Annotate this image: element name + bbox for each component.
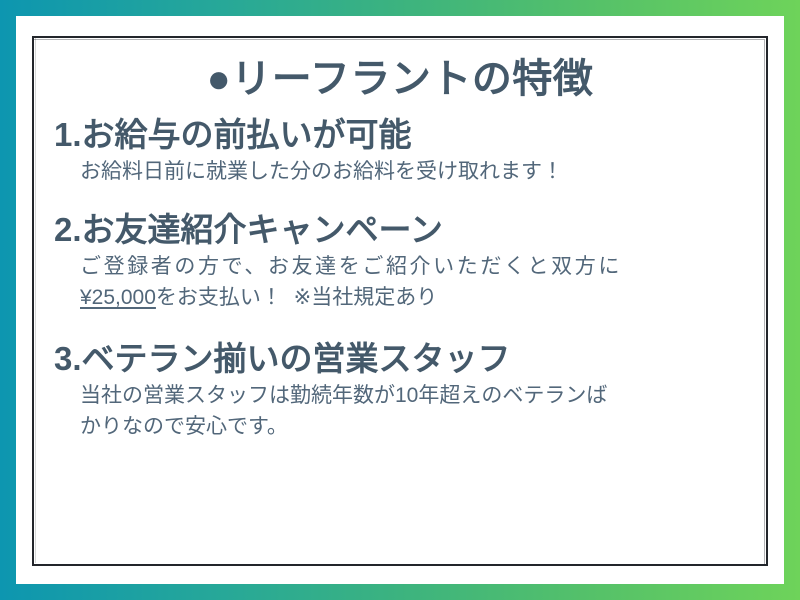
feature-3-body-line-2: かりなので安心です。 <box>80 412 750 442</box>
feature-2-body: ご登録者の方で、お友達をご紹介いただくと双方に ¥25,000をお支払い！ ※当… <box>80 252 750 313</box>
feature-3-body: 当社の営業スタッフは勤続年数が10年超えのベテランば かりなので安心です。 <box>80 381 750 442</box>
feature-1-title: 1.お給与の前払いが可能 <box>54 115 750 155</box>
feature-item-1: 1.お給与の前払いが可能 お給料日前に就業した分のお給料を受け取れます！ <box>50 115 750 188</box>
referral-note: ※当社規定あり <box>294 286 438 309</box>
referral-amount: ¥25,000 <box>80 286 156 309</box>
feature-2-body-line-2: ¥25,000をお支払い！ ※当社規定あり <box>80 283 750 313</box>
feature-item-3: 3.ベテラン揃いの営業スタッフ 当社の営業スタッフは勤続年数が10年超えのベテラ… <box>50 339 750 442</box>
slide-root: ●リーフラントの特徴 1.お給与の前払いが可能 お給料日前に就業した分のお給料を… <box>0 0 800 600</box>
feature-2-title: 2.お友達紹介キャンペーン <box>54 210 750 250</box>
feature-1-body: お給料日前に就業した分のお給料を受け取れます！ <box>80 157 750 187</box>
page-title: ●リーフラントの特徴 <box>50 56 750 103</box>
feature-3-title: 3.ベテラン揃いの営業スタッフ <box>54 339 750 379</box>
feature-item-2: 2.お友達紹介キャンペーン ご登録者の方で、お友達をご紹介いただくと双方に ¥2… <box>50 210 750 313</box>
feature-1-body-line-1: お給料日前に就業した分のお給料を受け取れます！ <box>80 157 750 187</box>
feature-3-body-line-1: 当社の営業スタッフは勤続年数が10年超えのベテランば <box>80 381 750 411</box>
referral-amount-suffix: をお支払い！ <box>156 286 282 309</box>
feature-2-body-line-1: ご登録者の方で、お友達をご紹介いただくと双方に <box>80 252 750 282</box>
slide-content: ●リーフラントの特徴 1.お給与の前払いが可能 お給料日前に就業した分のお給料を… <box>32 36 768 566</box>
